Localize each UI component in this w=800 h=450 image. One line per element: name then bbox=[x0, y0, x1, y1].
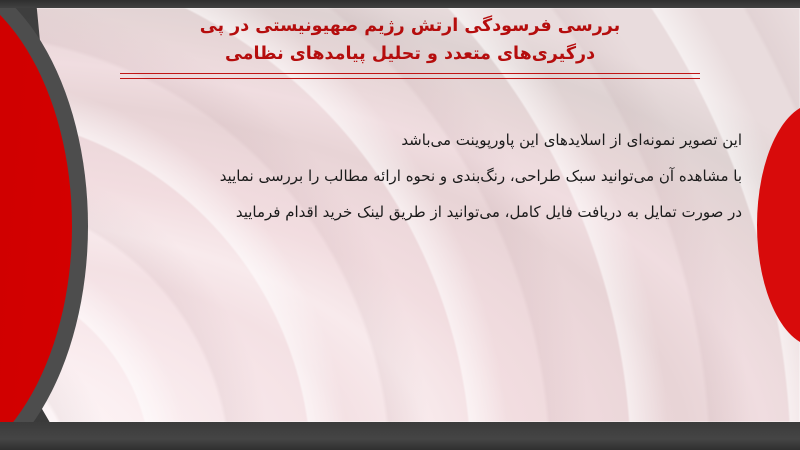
title-underline-rule bbox=[120, 73, 700, 79]
body-line-1: این تصویر نمونه‌ای از اسلایدهای این پاور… bbox=[82, 122, 742, 158]
top-frame-band bbox=[0, 0, 800, 8]
slide-title-line-1: بررسی فرسودگی ارتش رژیم صهیونیستی در پی bbox=[120, 12, 700, 40]
slide-body-text: این تصویر نمونه‌ای از اسلایدهای این پاور… bbox=[82, 122, 742, 230]
slide-title-line-2: درگیری‌های متعدد و تحلیل پیامدهای نظامی bbox=[120, 40, 700, 68]
presentation-slide: بررسی فرسودگی ارتش رژیم صهیونیستی در پی … bbox=[0, 0, 800, 450]
body-line-3: در صورت تمایل به دریافت فایل کامل، می‌تو… bbox=[82, 194, 742, 230]
body-line-2: با مشاهده آن می‌توانید سبک طراحی، رنگ‌بن… bbox=[82, 158, 742, 194]
bottom-frame-band bbox=[0, 422, 800, 450]
slide-title: بررسی فرسودگی ارتش رژیم صهیونیستی در پی … bbox=[120, 12, 700, 79]
